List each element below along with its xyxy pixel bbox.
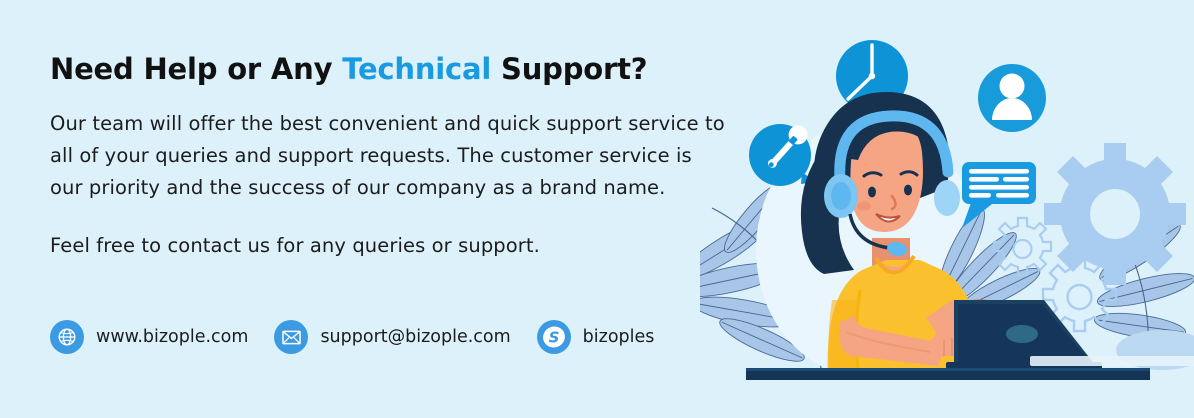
globe-icon — [50, 320, 84, 354]
envelope-icon — [274, 320, 308, 354]
support-illustration — [700, 0, 1194, 418]
laptop-base-far — [1030, 356, 1194, 366]
desk-highlight — [746, 368, 1150, 371]
eye-right — [904, 185, 912, 196]
text-column: Need Help or Any Technical Support? Our … — [50, 52, 730, 262]
support-banner: Need Help or Any Technical Support? Our … — [0, 0, 1194, 418]
cheek-blush — [857, 202, 871, 211]
headline-highlight: Technical — [342, 52, 491, 86]
headset-earcup-right — [934, 180, 960, 216]
contact-skype-label: bizoples — [583, 327, 655, 347]
wrench-speech-bubble-icon — [749, 122, 816, 186]
eye-left — [868, 187, 876, 198]
contact-skype[interactable]: S bizoples — [537, 320, 655, 354]
contact-row: www.bizople.com support@bizople.com S bi… — [50, 320, 680, 354]
headline-part1: Need Help or Any — [50, 52, 342, 86]
contact-email[interactable]: support@bizople.com — [274, 320, 510, 354]
headline-part2: Support? — [491, 52, 647, 86]
contact-email-label: support@bizople.com — [320, 327, 510, 347]
user-avatar-icon — [978, 64, 1046, 132]
body-copy: Our team will offer the best convenient … — [50, 108, 730, 262]
svg-text:S: S — [548, 328, 559, 346]
body-paragraph-1: Our team will offer the best convenient … — [50, 112, 725, 199]
body-paragraph-2: Feel free to contact us for any queries … — [50, 230, 730, 262]
contact-website[interactable]: www.bizople.com — [50, 320, 248, 354]
page-title: Need Help or Any Technical Support? — [50, 52, 730, 86]
contact-website-label: www.bizople.com — [96, 327, 248, 347]
skype-icon: S — [537, 320, 571, 354]
illustration-svg — [700, 0, 1194, 418]
gear-large-icon — [1044, 143, 1186, 285]
laptop-logo — [1006, 325, 1038, 343]
